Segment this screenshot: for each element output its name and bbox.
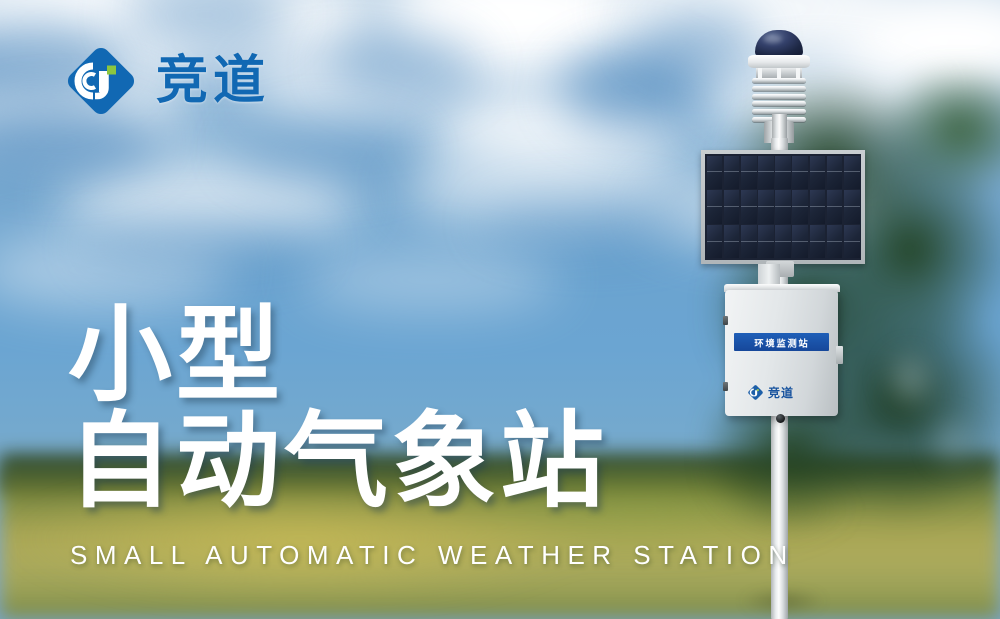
solar-cell [741, 156, 757, 189]
solar-cell [741, 190, 757, 223]
control-box: 环境监测站 竞道 [725, 290, 838, 416]
sensor-top-cap [748, 55, 810, 68]
control-box-latch[interactable] [836, 346, 843, 364]
solar-cell [741, 225, 757, 258]
brand-logo: 竞道 [62, 42, 270, 120]
pole-bolt [776, 414, 785, 423]
solar-cell [724, 190, 740, 223]
solar-cell [707, 156, 723, 189]
cloud-shadow-blob [480, 195, 700, 250]
solar-cell [792, 156, 808, 189]
cloud-shadow-blob [230, 120, 420, 185]
solar-cell [844, 190, 860, 223]
solar-cell [775, 156, 791, 189]
ultrasonic-weather-sensor-icon [755, 30, 803, 57]
hero-banner: 竞道 小型 自动气象站 SMALL AUTOMATIC WEATHER STAT… [0, 0, 1000, 619]
brand-name: 竞道 [156, 55, 270, 107]
solar-cell [775, 225, 791, 258]
control-box-banner: 环境监测站 [734, 333, 829, 351]
control-box-hinge [723, 316, 728, 325]
jingdao-diamond-logo-icon [62, 42, 140, 120]
solar-cell [827, 225, 843, 258]
solar-cell [758, 190, 774, 223]
cloud-shadow-blob [330, 30, 480, 100]
solar-cell [775, 190, 791, 223]
cloud-shadow-blob [80, 215, 320, 275]
control-box-banner-text: 环境监测站 [754, 335, 809, 349]
weather-station-product: 环境监测站 竞道 [700, 28, 900, 619]
solar-cell [707, 190, 723, 223]
hero-title-line-2: 自动气象站 [68, 406, 608, 518]
hero-title-line-1: 小型 [68, 300, 608, 412]
sensor-air-gap [756, 68, 802, 78]
control-box-brand-name: 竞道 [768, 387, 794, 399]
solar-cell [758, 156, 774, 189]
jingdao-diamond-logo-icon [747, 384, 764, 401]
control-box-brand-logo: 竞道 [747, 384, 794, 401]
solar-cell [724, 225, 740, 258]
solar-cell [844, 225, 860, 258]
solar-cell [707, 225, 723, 258]
solar-cell [724, 156, 740, 189]
solar-cell [792, 225, 808, 258]
solar-cell [827, 190, 843, 223]
solar-cell [844, 156, 860, 189]
solar-panel-cell-grid [705, 154, 861, 260]
control-box-hinge [723, 382, 728, 391]
solar-cell [810, 190, 826, 223]
hero-subtitle: SMALL AUTOMATIC WEATHER STATION [70, 540, 795, 571]
hero-title: 小型 自动气象站 [68, 300, 608, 519]
solar-cell [758, 225, 774, 258]
solar-cell [792, 190, 808, 223]
solar-cell [827, 156, 843, 189]
solar-panel-icon [701, 150, 865, 264]
solar-cell [810, 225, 826, 258]
solar-cell [810, 156, 826, 189]
